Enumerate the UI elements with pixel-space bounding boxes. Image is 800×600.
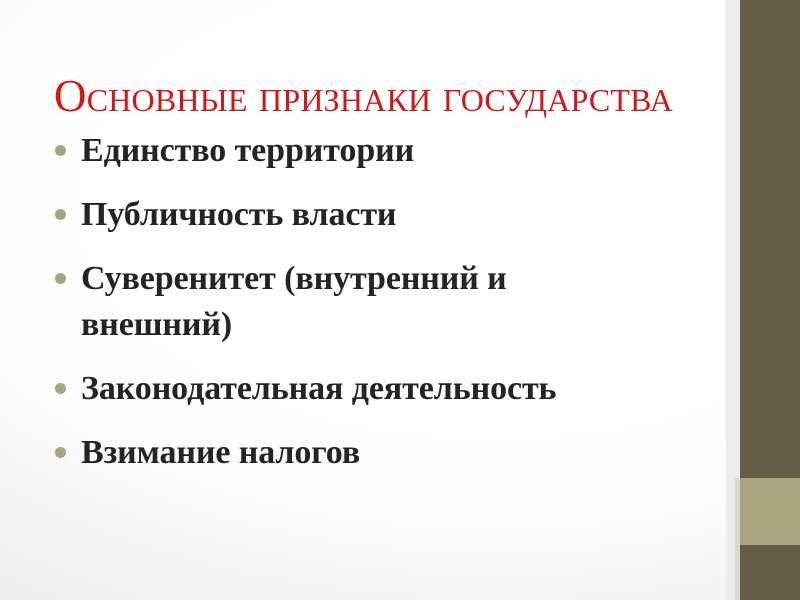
- bullet-dot-icon: [55, 273, 66, 284]
- bullet-dot-icon: [55, 383, 66, 394]
- decorative-bar-dark-top: [740, 0, 800, 478]
- slide-canvas: Основные признаки государства Единство т…: [0, 0, 800, 600]
- bullet-dot-icon: [55, 447, 66, 458]
- list-item-label: Публичность власти: [81, 192, 692, 238]
- list-item: Законодательная деятельность: [52, 366, 692, 412]
- list-item-label: Суверенитет (внутренний и внешний): [81, 256, 641, 348]
- list-item: Суверенитет (внутренний и внешний): [52, 256, 641, 348]
- decorative-bar-dark-bottom: [740, 545, 800, 600]
- list-item-label: Единство территории: [81, 128, 692, 174]
- list-item-label: Законодательная деятельность: [81, 366, 692, 412]
- bullet-dot-icon: [55, 209, 66, 220]
- decorative-bar-light: [740, 478, 800, 545]
- slide-title: Основные признаки государства: [54, 70, 714, 122]
- list-item-label: Взимание налогов: [81, 430, 692, 476]
- list-item: Публичность власти: [52, 192, 692, 238]
- bullet-dot-icon: [55, 145, 66, 156]
- list-item: Единство территории: [52, 128, 692, 174]
- slide-bullet-list: Единство территории Публичность власти С…: [52, 128, 692, 494]
- list-item: Взимание налогов: [52, 430, 692, 476]
